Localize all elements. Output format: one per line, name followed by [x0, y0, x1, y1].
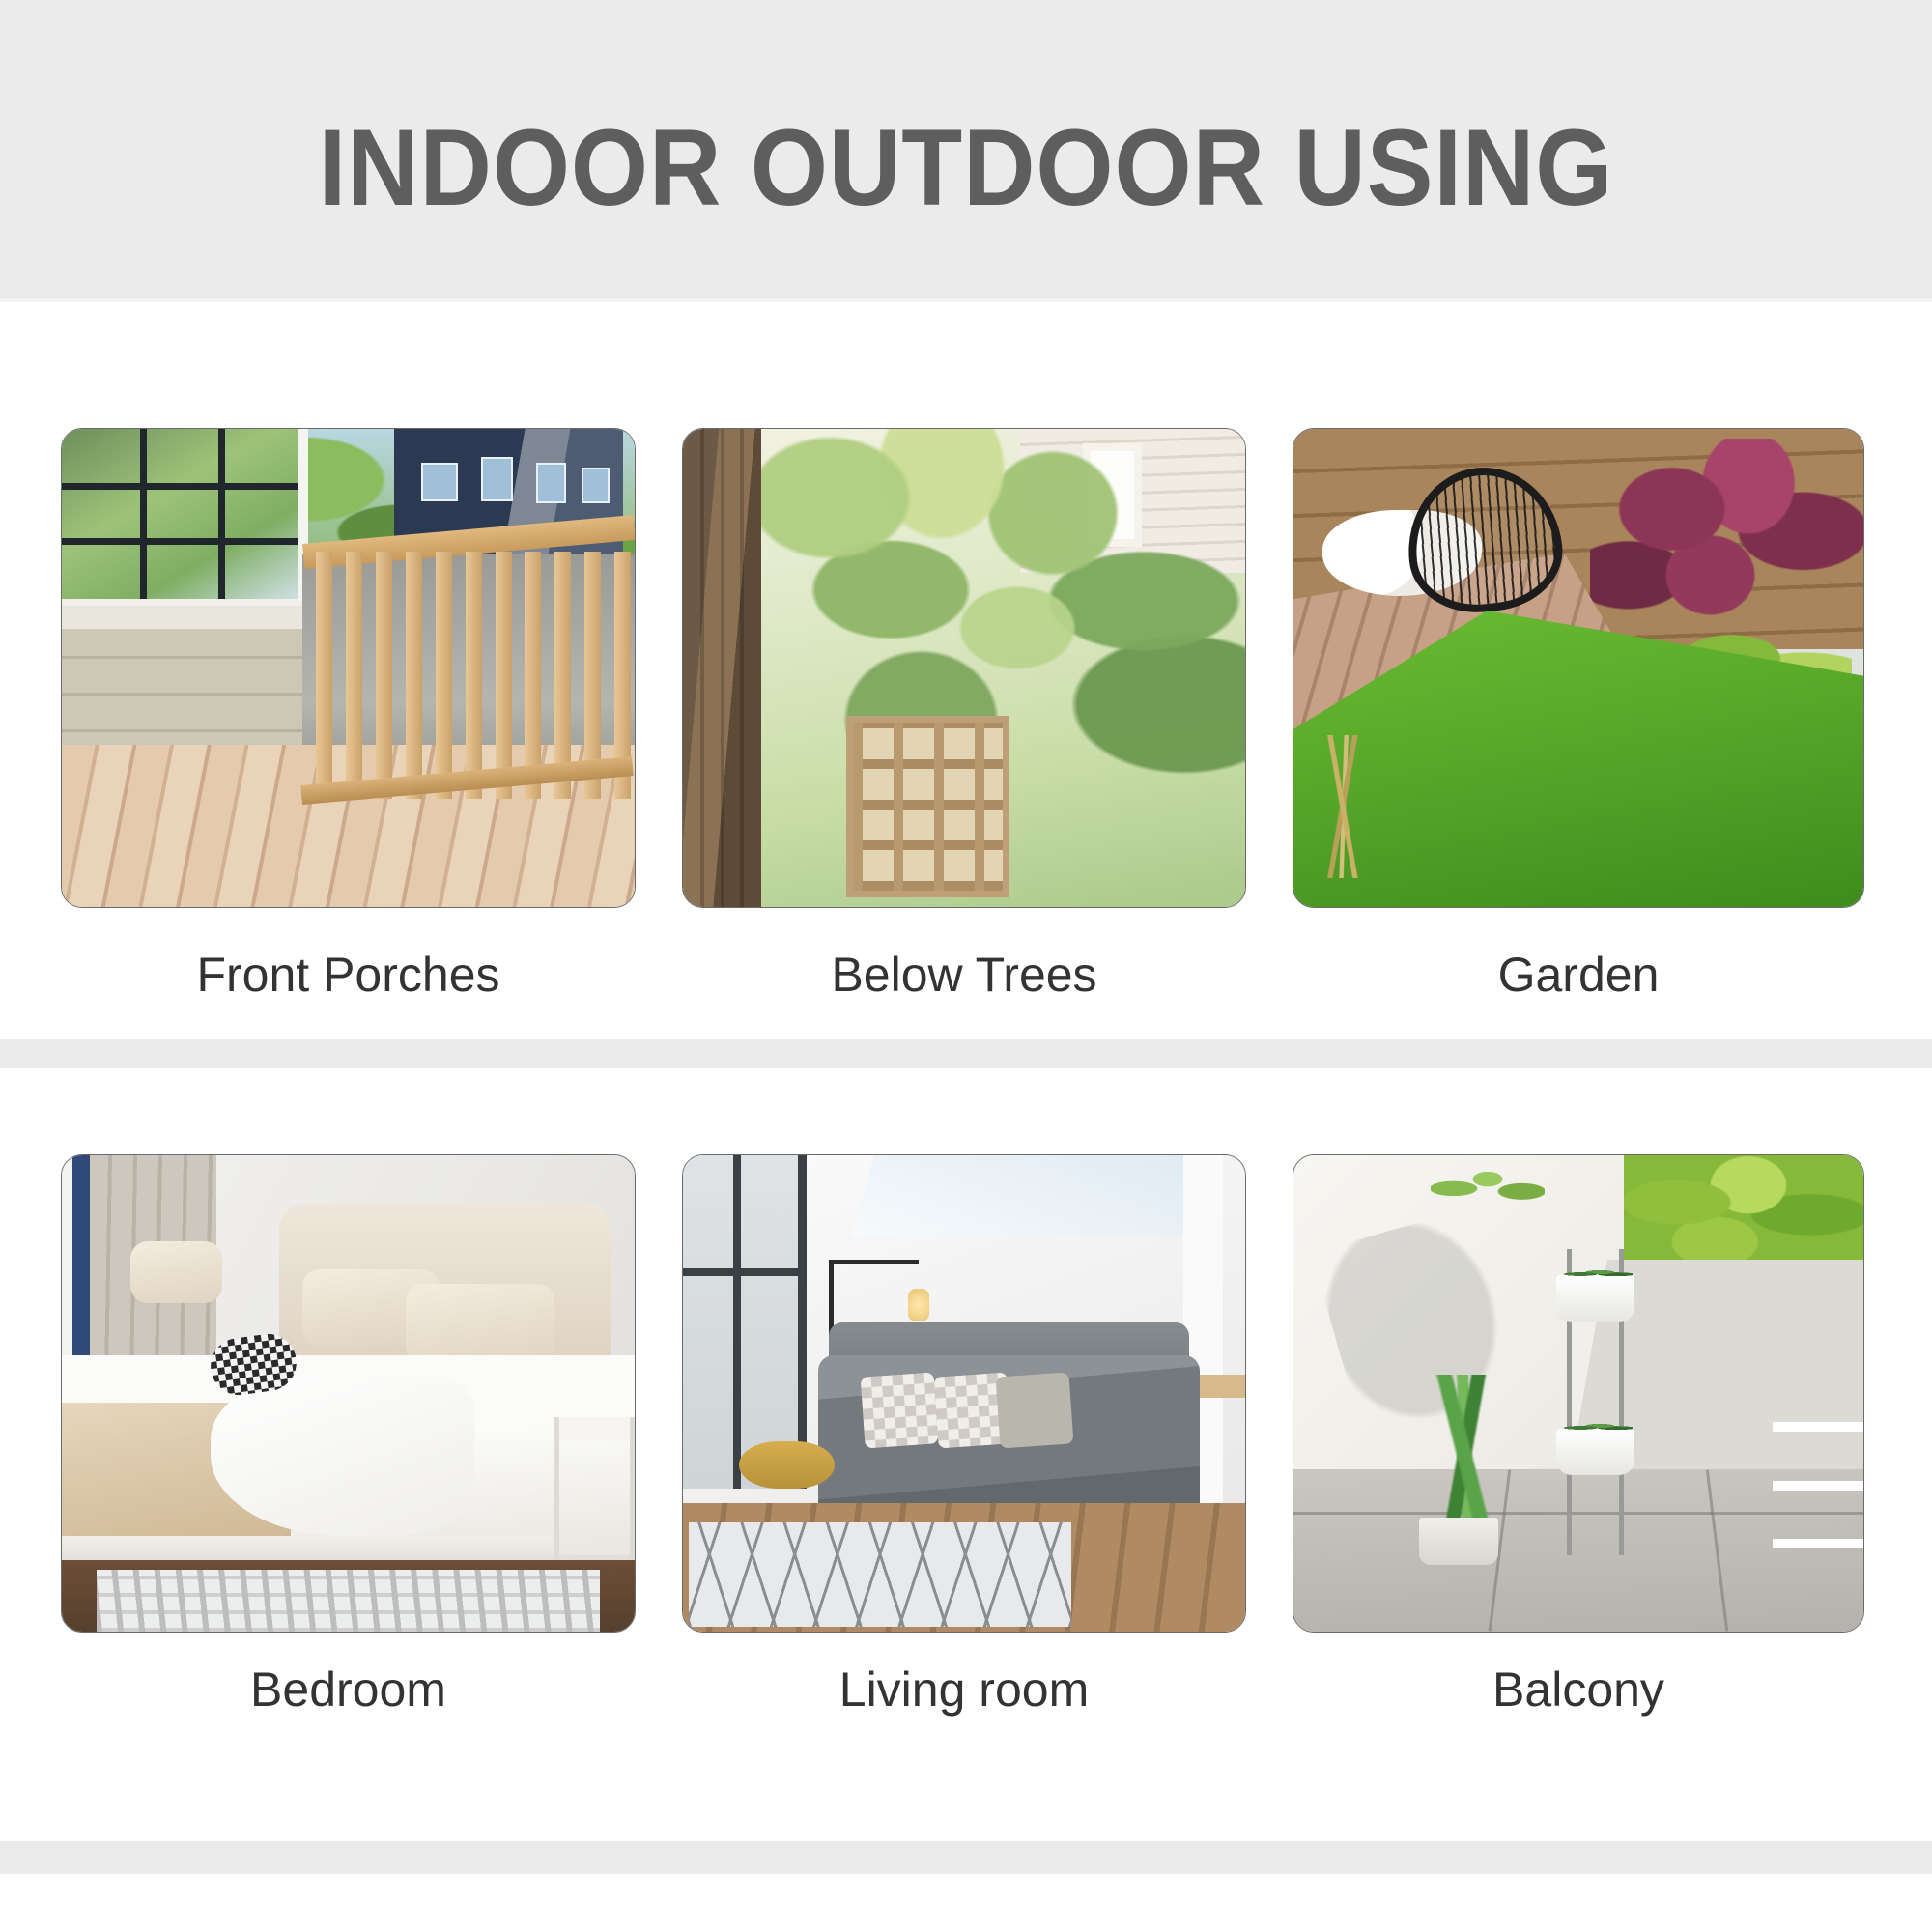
balcony-planter-lower [1556, 1429, 1634, 1475]
balcony-plant-stand [1545, 1222, 1647, 1555]
livingroom-side-table [739, 1441, 835, 1489]
bedroom-rug [97, 1570, 601, 1632]
balcony-plant-upper [1558, 1268, 1633, 1278]
gallery-cell-garden[interactable]: Garden [1293, 428, 1864, 1001]
trees-trunk [683, 429, 761, 907]
caption-below-trees: Below Trees [831, 949, 1096, 1001]
caption-bedroom: Bedroom [250, 1663, 446, 1716]
section-divider-band [0, 1039, 1932, 1068]
photo-below-trees[interactable] [682, 428, 1246, 908]
gallery-cell-bedroom[interactable]: Bedroom [61, 1154, 636, 1716]
gallery-cell-living-room[interactable]: Living room [682, 1154, 1246, 1716]
balcony-plant-pot [1419, 1518, 1499, 1565]
bedroom-pillow [406, 1284, 554, 1365]
balcony-railing [1773, 1412, 1863, 1575]
balcony-hanging-vine [1431, 1160, 1545, 1207]
header-band: INDOOR OUTDOOR USING [0, 0, 1932, 302]
balcony-potted-plant [1407, 1375, 1521, 1537]
livingroom-skylight [851, 1155, 1211, 1236]
photo-garden[interactable] [1293, 428, 1864, 908]
livingroom-cushion [995, 1372, 1073, 1448]
caption-balcony: Balcony [1492, 1663, 1664, 1716]
caption-living-room: Living room [839, 1663, 1089, 1716]
balcony-plant-lower [1558, 1422, 1633, 1432]
gallery-row-outdoor: Front Porches Below Trees [61, 428, 1864, 1001]
caption-garden: Garden [1498, 949, 1660, 1001]
page-title: INDOOR OUTDOOR USING [77, 114, 1855, 222]
garden-ornamental-grass [1305, 735, 1385, 879]
photo-front-porches[interactable] [61, 428, 636, 908]
bottom-divider-band [0, 1841, 1932, 1874]
gallery-row-indoor: Bedroom Living room [61, 1154, 1864, 1716]
livingroom-cushion [861, 1372, 939, 1448]
photo-living-room[interactable] [682, 1154, 1246, 1633]
trees-lattice-screen [846, 716, 1009, 897]
bedroom-duvet [211, 1375, 474, 1537]
gallery-cell-front-porches[interactable]: Front Porches [61, 428, 636, 1001]
balcony-planter-upper [1556, 1275, 1634, 1321]
livingroom-glass-partition [683, 1155, 807, 1489]
photo-bedroom[interactable] [61, 1154, 636, 1633]
gallery-cell-balcony[interactable]: Balcony [1293, 1154, 1864, 1716]
bedroom-side-table [554, 1417, 635, 1560]
porch-window [62, 429, 308, 611]
porch-railing [302, 544, 635, 807]
livingroom-bulb [908, 1289, 929, 1321]
livingroom-wall-lamp-arm [829, 1260, 919, 1264]
caption-front-porches: Front Porches [196, 949, 499, 1001]
livingroom-rug [689, 1522, 1071, 1627]
bedroom-pillow [130, 1241, 222, 1303]
gallery-cell-below-trees[interactable]: Below Trees [682, 428, 1246, 1001]
photo-balcony[interactable] [1293, 1154, 1864, 1633]
header-hairline [0, 299, 1932, 302]
